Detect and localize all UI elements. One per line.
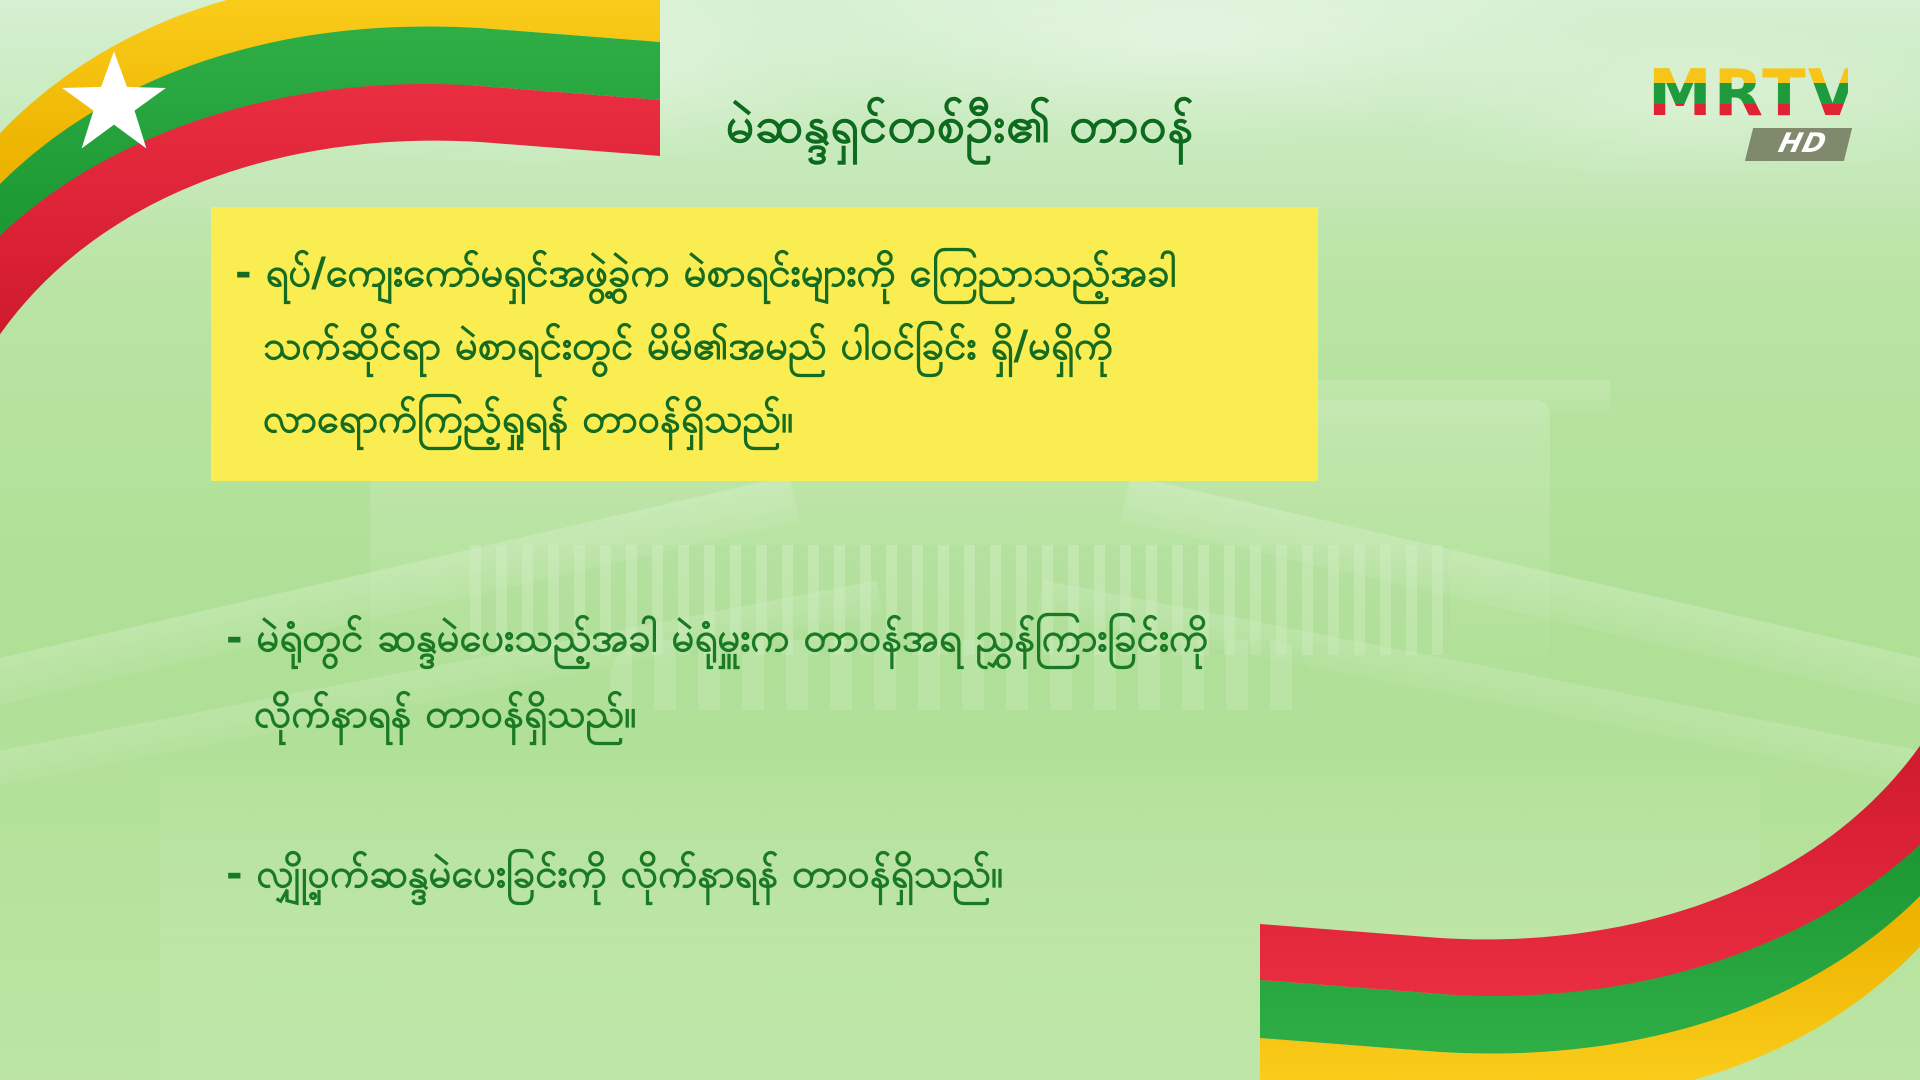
page-title: မဲဆန္ဒရှင်တစ်ဦး၏ တာဝန် [0, 96, 1920, 155]
bullet-3-line-1: - လျှို့ဝှက်ဆန္ဒမဲပေးခြင်းကို လိုက်နာရန်… [226, 836, 1546, 912]
highlight-line-2: သက်ဆိုင်ရာ မဲစာရင်းတွင် မိမိ၏အမည် ပါဝင်ခ… [211, 310, 1318, 383]
highlight-line-3: လာရောက်ကြည့်ရှုရန် တာဝန်ရှိသည်။ [211, 383, 1318, 456]
slide-root: MRTV HD မဲဆန္ဒရှင်တစ်ဦး၏ တာဝန် - ရပ်/ကျေ… [0, 0, 1920, 1080]
background-green-wash [0, 0, 1920, 1080]
bullet-2-line-1: - မဲရုံတွင် ဆန္ဒမဲပေးသည့်အခါ မဲရုံမှူးက … [226, 600, 1546, 676]
highlight-line-1: - ရပ်/ကျေးကော်မရှင်အဖွဲ့ခွဲက မဲစာရင်းမျာ… [211, 237, 1318, 310]
bullet-item-2: - မဲရုံတွင် ဆန္ဒမဲပေးသည့်အခါ မဲရုံမှူးက … [226, 600, 1546, 752]
bullet-2-line-2: လိုက်နာရန် တာဝန်ရှိသည်။ [226, 676, 1546, 752]
bullet-item-3: - လျှို့ဝှက်ဆန္ဒမဲပေးခြင်းကို လိုက်နာရန်… [226, 836, 1546, 912]
highlight-box: - ရပ်/ကျေးကော်မရှင်အဖွဲ့ခွဲက မဲစာရင်းမျာ… [211, 207, 1318, 481]
